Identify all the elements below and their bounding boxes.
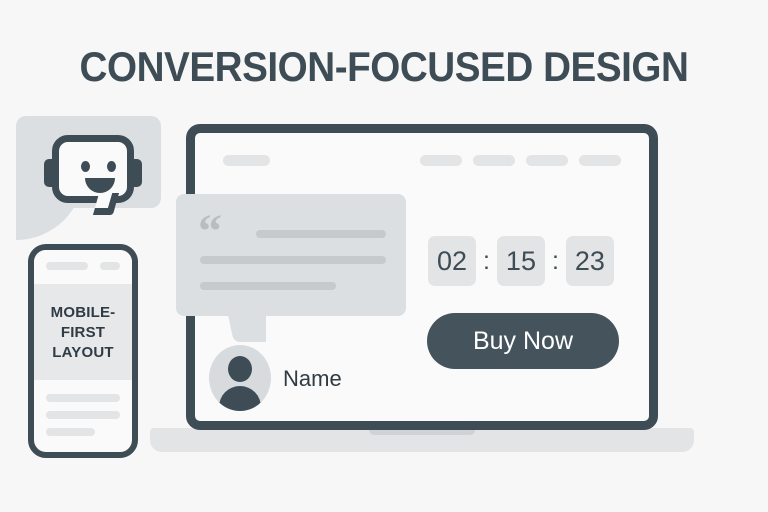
- phone-label-line-1: MOBILE-: [51, 303, 116, 322]
- navbar-item-1[interactable]: [420, 155, 462, 166]
- phone-skeleton-bar: [46, 411, 120, 419]
- navbar-item-2[interactable]: [473, 155, 515, 166]
- bot-eye-left: [81, 161, 90, 172]
- chat-bot-face-icon: [44, 135, 142, 213]
- page-title: CONVERSION-FOCUSED DESIGN: [31, 43, 738, 91]
- countdown-minutes: 15: [497, 236, 545, 286]
- phone-label-line-3: LAYOUT: [52, 343, 114, 362]
- testimonial-skeleton-line: [256, 230, 386, 238]
- quote-mark-icon: “: [198, 208, 222, 256]
- phone-skeleton-bar: [100, 262, 120, 270]
- testimonial-skeleton-line: [200, 282, 336, 290]
- phone-label-line-2: FIRST: [61, 323, 105, 342]
- countdown-seconds: 23: [566, 236, 614, 286]
- testimonial-tail: [224, 316, 266, 342]
- phone-header: [34, 250, 132, 284]
- countdown-hours: 02: [428, 236, 476, 286]
- poster-canvas: CONVERSION-FOCUSED DESIGN MOBILE- FIRST …: [0, 0, 768, 512]
- bot-eye-right: [107, 161, 116, 172]
- user-avatar-icon: [209, 345, 271, 411]
- phone-skeleton-bar: [46, 262, 88, 270]
- bot-smile: [85, 178, 115, 193]
- phone-skeleton-bar: [46, 428, 95, 436]
- navbar-item-4[interactable]: [579, 155, 621, 166]
- testimonial-author-name: Name: [283, 366, 342, 392]
- navbar-logo-placeholder[interactable]: [223, 155, 270, 166]
- phone-mockup: MOBILE- FIRST LAYOUT: [28, 244, 138, 458]
- countdown-timer: 02 : 15 : 23: [428, 236, 614, 286]
- avatar-head: [228, 356, 252, 382]
- phone-hero-band: MOBILE- FIRST LAYOUT: [34, 284, 132, 380]
- buy-now-button[interactable]: Buy Now: [427, 313, 619, 369]
- testimonial-card: “: [176, 194, 406, 316]
- countdown-separator: :: [551, 236, 560, 286]
- countdown-separator: :: [482, 236, 491, 286]
- phone-skeleton-bar: [46, 394, 120, 402]
- website-navbar: [195, 155, 650, 167]
- navbar-item-3[interactable]: [526, 155, 568, 166]
- phone-content: [34, 380, 132, 436]
- testimonial-skeleton-line: [200, 256, 386, 264]
- avatar-body: [219, 386, 261, 411]
- bot-face: [52, 135, 134, 203]
